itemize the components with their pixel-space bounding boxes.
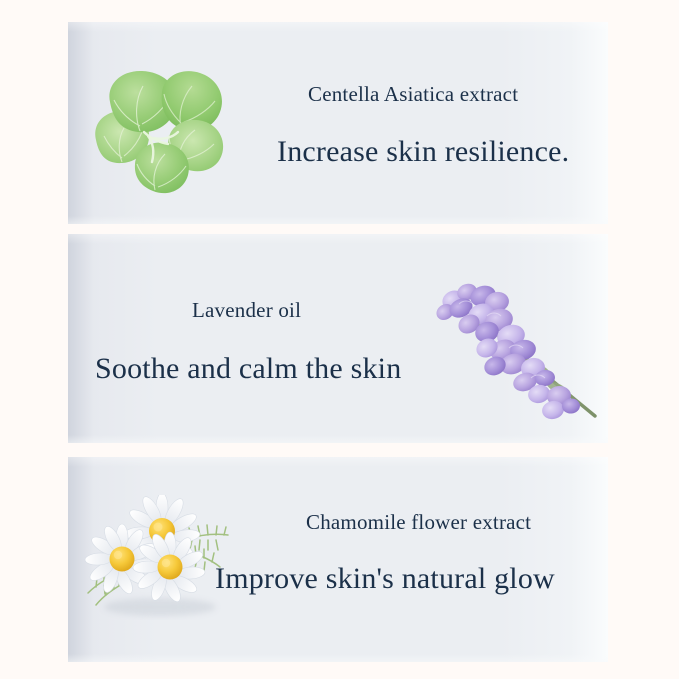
ingredient-panel-lavender bbox=[68, 234, 608, 443]
ingredient-panel-centella bbox=[68, 22, 608, 224]
ingredient-benefit-centella: Increase skin resilience. bbox=[277, 135, 569, 169]
ingredient-panel-chamomile bbox=[68, 457, 608, 662]
ingredient-name-lavender: Lavender oil bbox=[192, 298, 301, 323]
ingredient-name-centella: Centella Asiatica extract bbox=[308, 82, 518, 107]
ingredient-benefits-board: Centella Asiatica extract Increase skin … bbox=[0, 0, 679, 679]
ingredient-name-chamomile: Chamomile flower extract bbox=[306, 510, 531, 535]
ingredient-benefit-chamomile: Improve skin's natural glow bbox=[215, 562, 555, 596]
ingredient-benefit-lavender: Soothe and calm the skin bbox=[95, 352, 401, 386]
